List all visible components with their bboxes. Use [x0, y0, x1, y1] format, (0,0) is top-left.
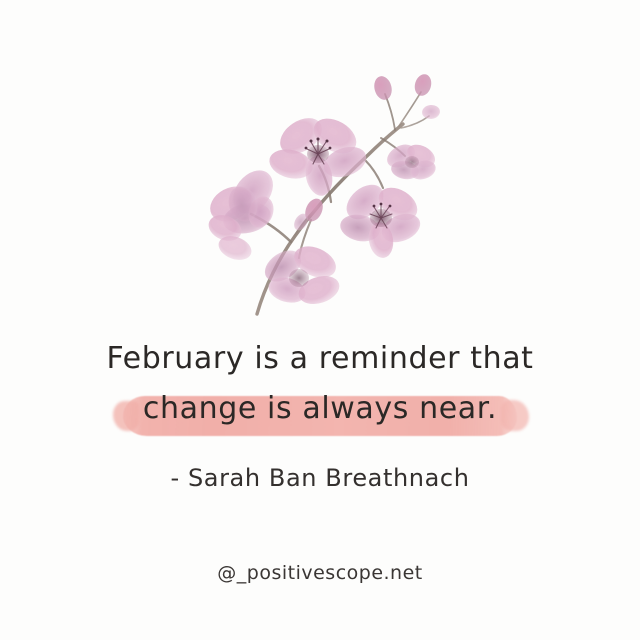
quote-line-2-row: change is always near. [0, 394, 640, 424]
quote-attribution: - Sarah Ban Breathnach [0, 464, 640, 492]
quote-line-1: February is a reminder that [0, 344, 640, 374]
blossom-right [338, 178, 425, 260]
quote-block: February is a reminder that change is al… [0, 344, 640, 492]
blossom-small-right [383, 140, 439, 183]
blossom-lower-middle [259, 240, 343, 309]
highlighted-phrase: change is always near. [129, 394, 511, 424]
account-handle: @_positivescope.net [0, 562, 640, 584]
blossom-upper-middle [266, 111, 370, 199]
quote-line-2: change is always near. [143, 391, 497, 426]
quote-card: February is a reminder that change is al… [0, 0, 640, 640]
blossom-left [204, 163, 281, 265]
cherry-blossom-svg [195, 52, 445, 320]
cherry-blossom-illustration [0, 52, 640, 320]
